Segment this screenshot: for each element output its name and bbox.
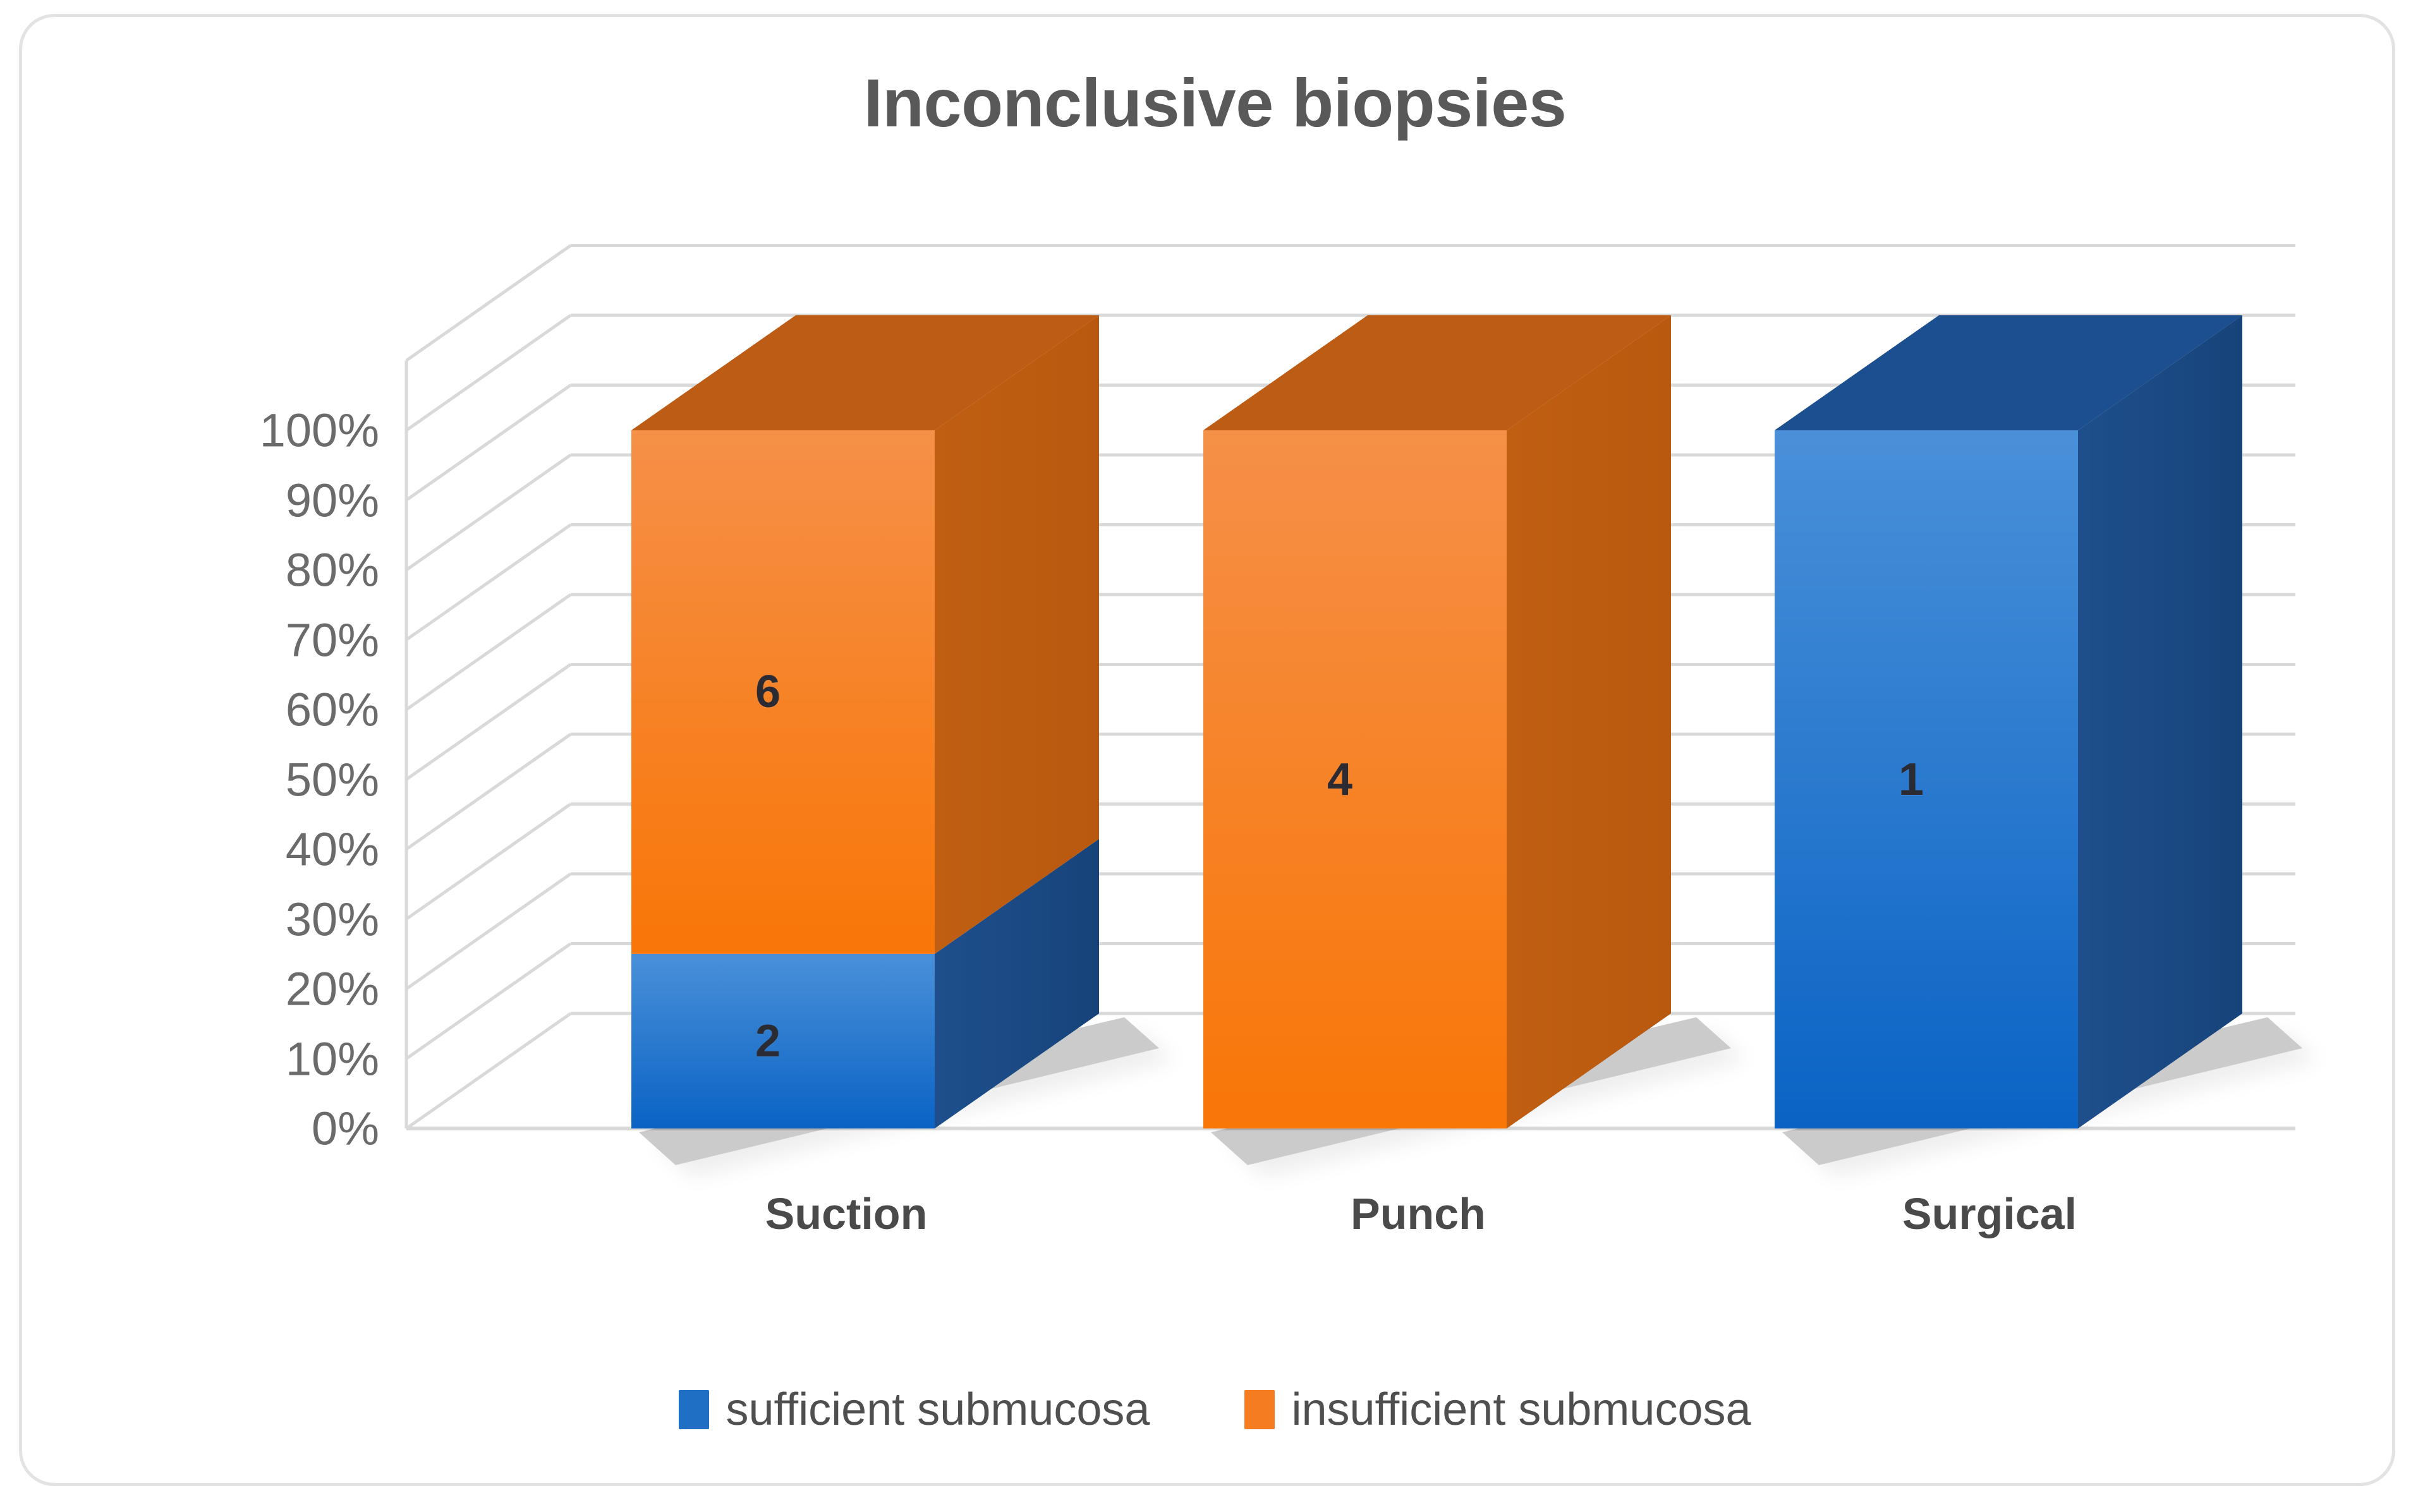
bar-segment-insufficient-punch bbox=[1203, 315, 1671, 1128]
legend-swatch-icon bbox=[1244, 1390, 1275, 1429]
y-axis-tick-100: 100% bbox=[209, 404, 379, 457]
legend-item-insufficient-submucosa[interactable]: insufficient submucosa bbox=[1244, 1384, 1751, 1436]
legend-item-sufficient-submucosa[interactable]: sufficient submucosa bbox=[679, 1384, 1150, 1436]
y-axis-tick-10: 10% bbox=[209, 1032, 379, 1086]
gridline-diagonal bbox=[406, 385, 571, 500]
chart-plot-area: 100%90%80%70%60%50%40%30%20%10%0% Suctio… bbox=[0, 0, 2430, 1512]
y-axis-tick-70: 70% bbox=[209, 613, 379, 667]
y-axis-tick-40: 40% bbox=[209, 823, 379, 876]
gridline-diagonal bbox=[406, 874, 571, 989]
bar-front-face bbox=[631, 954, 935, 1128]
gridline-diagonal bbox=[406, 804, 571, 919]
x-axis-category-punch: Punch bbox=[1351, 1188, 1486, 1239]
gridline-diagonal bbox=[406, 595, 571, 710]
x-axis-category-surgical: Surgical bbox=[1902, 1188, 2077, 1239]
bar-side-face bbox=[1507, 315, 1671, 1128]
legend-swatch-icon bbox=[679, 1390, 709, 1429]
data-label-sufficient-surgical: 1 bbox=[1898, 754, 1924, 806]
data-label-sufficient-suction: 2 bbox=[755, 1015, 781, 1067]
gridline-diagonal bbox=[406, 455, 571, 570]
bar-segment-sufficient-surgical bbox=[1775, 315, 2242, 1128]
y-axis-tick-60: 60% bbox=[209, 683, 379, 737]
x-axis-category-suction: Suction bbox=[765, 1188, 928, 1239]
bar-front-face bbox=[1203, 430, 1507, 1128]
bar-side-face bbox=[2078, 315, 2242, 1128]
gridline-diagonal bbox=[406, 315, 571, 430]
bar-front-face bbox=[1775, 430, 2078, 1128]
gridline-diagonal bbox=[406, 665, 571, 780]
y-axis-tick-0: 0% bbox=[209, 1102, 379, 1156]
gridline-diagonal bbox=[406, 944, 571, 1059]
y-axis-tick-labels: 100%90%80%70%60%50%40%30%20%10%0% bbox=[209, 0, 379, 1512]
gridline-diagonal bbox=[406, 246, 571, 361]
legend-label: insufficient submucosa bbox=[1291, 1384, 1751, 1436]
gridline-diagonal bbox=[406, 734, 571, 849]
y-axis-tick-20: 20% bbox=[209, 962, 379, 1016]
screenshot-root: Inconclusive biopsies 100%90%80%70%60%50… bbox=[0, 0, 2430, 1512]
y-axis-tick-80: 80% bbox=[209, 543, 379, 597]
gridline-diagonal bbox=[406, 1013, 571, 1128]
data-label-insufficient-suction: 6 bbox=[755, 666, 781, 718]
chart-legend: sufficient submucosainsufficient submuco… bbox=[0, 1384, 2430, 1436]
y-axis-tick-90: 90% bbox=[209, 473, 379, 527]
data-label-insufficient-punch: 4 bbox=[1327, 754, 1352, 806]
y-axis-tick-30: 30% bbox=[209, 892, 379, 946]
legend-label: sufficient submucosa bbox=[726, 1384, 1150, 1436]
gridline-diagonal bbox=[406, 525, 571, 640]
y-axis-tick-50: 50% bbox=[209, 753, 379, 806]
bar-front-face bbox=[631, 430, 935, 954]
bar-segment-insufficient-suction bbox=[631, 315, 1099, 954]
